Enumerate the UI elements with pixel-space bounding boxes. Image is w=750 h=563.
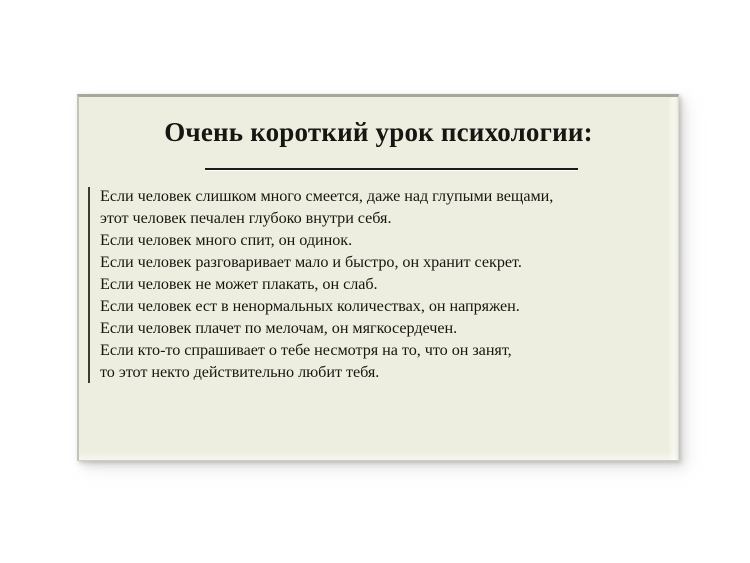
body-left-rule — [88, 187, 90, 383]
lesson-line: Если человек ест в ненормальных количест… — [100, 295, 662, 317]
lesson-line: этот человек печален глубоко внутри себя… — [100, 207, 662, 229]
lesson-line: то этот некто действительно любит тебя. — [100, 361, 662, 383]
card-body: Если человек слишком много смеется, даже… — [88, 185, 662, 383]
lesson-line: Если человек много спит, он одинок. — [100, 229, 662, 251]
card-right-sheen — [668, 97, 678, 460]
card-bottom-sheen — [79, 452, 678, 460]
title-divider — [205, 168, 578, 171]
card-title: Очень короткий урок психологии: — [79, 117, 678, 148]
lesson-line-list: Если человек слишком много смеется, даже… — [88, 185, 662, 383]
lesson-line: Если человек не может плакать, он слаб. — [100, 273, 662, 295]
lesson-line: Если человек плачет по мелочам, он мягко… — [100, 317, 662, 339]
image-canvas: Очень короткий урок психологии: Если чел… — [0, 0, 750, 563]
lesson-line: Если человек разговаривает мало и быстро… — [100, 251, 662, 273]
lesson-line: Если кто-то спрашивает о тебе несмотря н… — [100, 339, 662, 361]
lesson-line: Если человек слишком много смеется, даже… — [100, 185, 662, 207]
psychology-lesson-card: Очень короткий урок психологии: Если чел… — [77, 94, 679, 461]
